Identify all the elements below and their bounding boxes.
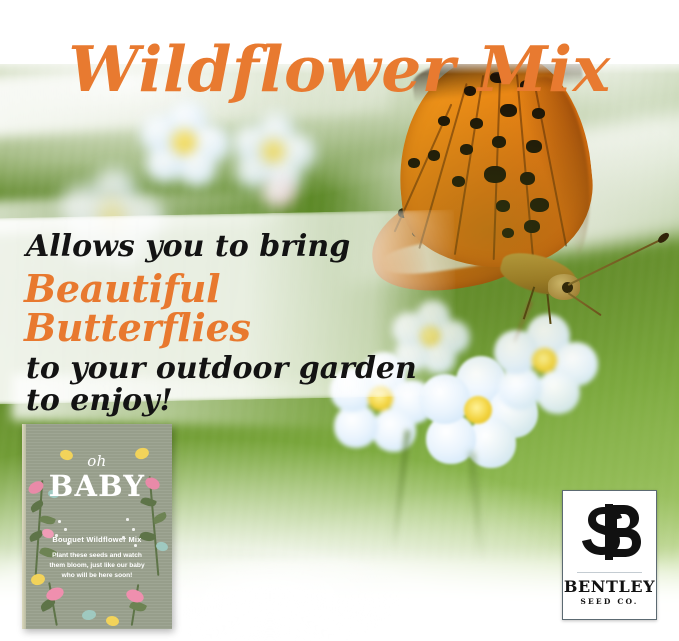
forget-me-not-flower [232,112,316,192]
sb-monogram-icon [563,497,656,569]
butterfly-leg [523,287,535,320]
forget-me-not-flower [140,100,230,186]
packet-dot-spray [132,528,135,531]
logo-divider [577,572,642,573]
packet-dot-spray [64,528,67,531]
butterfly-body [497,246,580,302]
forget-me-not-flower [494,314,598,414]
packet-script-word: oh [22,452,172,470]
tagline-line-1: Allows you to bring [26,232,456,263]
tagline-line-3: to your outdoor garden [26,354,456,385]
packet-leaf [152,512,168,525]
tagline-line-4: to enjoy! [26,386,456,417]
product-image-poster: Wildflower Mix Allows you to bring Beaut… [0,0,679,641]
packet-flower-bud [81,609,96,621]
butterfly-antenna-club [656,231,670,245]
packet-body-text: Plant these seeds and watch them bloom, … [46,551,148,582]
logo-brand-tagline: SEED CO. [563,597,656,606]
page-title: Wildflower Mix [0,36,679,102]
flower-stem [512,301,533,345]
flower-stem [469,452,484,562]
butterfly-eye [562,282,573,293]
flower-stem [391,430,411,550]
packet-subtitle: Bouquet Wildflower Mix [22,535,172,544]
butterfly-head [548,274,580,300]
seed-packet: oh BABY Bouquet Wildflower Mix Plant the… [22,424,172,629]
packet-leaf [39,513,56,526]
packet-title: BABY [22,469,172,503]
logo-brand-name: BENTLEY [563,577,656,596]
packet-dot-spray [126,518,129,521]
packet-title-block: oh BABY [22,452,172,503]
butterfly-antenna [567,292,601,316]
bentley-seed-co-logo: BENTLEY SEED CO. [562,490,657,620]
packet-dot-spray [58,520,61,523]
packet-flower-bud [30,573,46,587]
butterfly-antenna [568,238,664,286]
packet-dot-spray [134,544,137,547]
packet-flower-bud [124,587,145,604]
tagline-block: Allows you to bring Beautiful Butterflie… [26,232,456,417]
butterfly-leg [546,294,551,324]
bottom-white-wash-left [150,560,450,641]
packet-flower-bud [105,615,120,627]
tagline-line-2-highlight: Beautiful Butterflies [24,269,456,347]
